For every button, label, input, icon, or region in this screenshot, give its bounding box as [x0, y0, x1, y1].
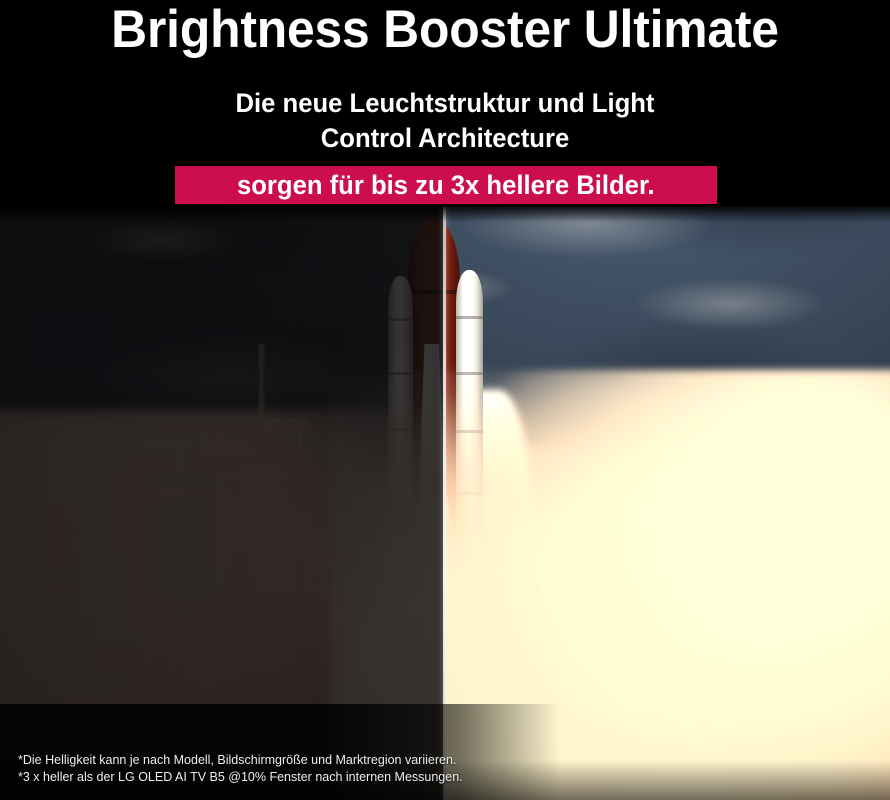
footnote-line-1: *Die Helligkeit kann je nach Modell, Bil… — [18, 752, 463, 769]
highlight-banner-label: sorgen für bis zu 3x hellere Bilder. — [237, 171, 655, 199]
promo-banner: Brightness Booster Ultimate Die neue Leu… — [0, 0, 890, 800]
subtitle: Die neue Leuchtstruktur und Light Contro… — [22, 86, 868, 156]
subtitle-line-1: Die neue Leuchtstruktur und Light — [22, 86, 868, 121]
header-block: Brightness Booster Ultimate Die neue Leu… — [0, 0, 890, 206]
page-title: Brightness Booster Ultimate — [27, 0, 864, 60]
highlight-banner: sorgen für bis zu 3x hellere Bilder. — [175, 166, 717, 204]
footnote-line-2: *3 x heller als der LG OLED AI TV B5 @10… — [18, 769, 463, 786]
subtitle-line-2: Control Architecture — [22, 121, 868, 156]
footnote-block: *Die Helligkeit kann je nach Modell, Bil… — [18, 752, 463, 786]
